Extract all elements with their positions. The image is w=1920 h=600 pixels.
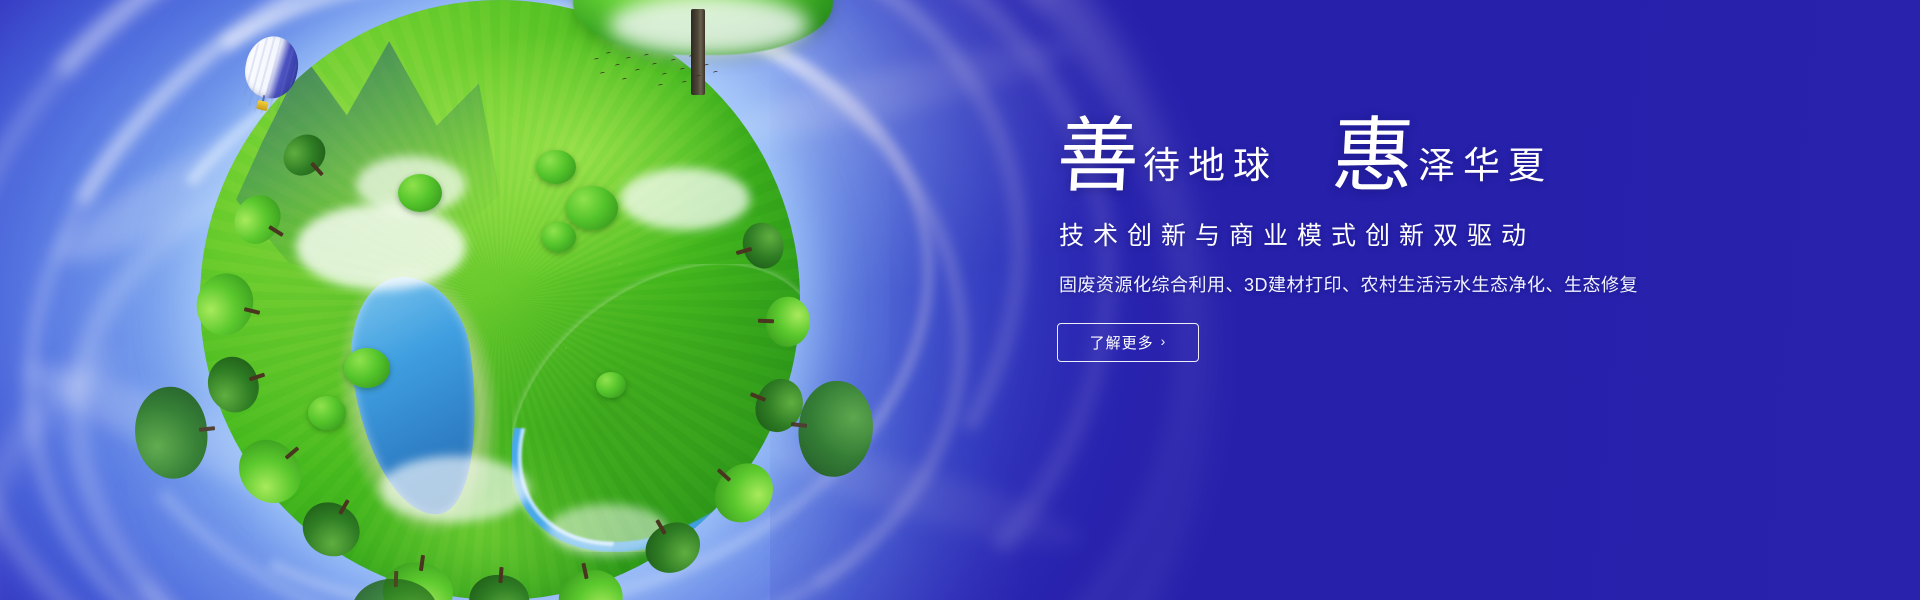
learn-more-button[interactable]: 了解更多 › <box>1057 323 1199 362</box>
bird-flock <box>592 48 722 96</box>
rim-tree <box>275 126 333 184</box>
rim-tree <box>637 513 709 583</box>
headline-small-text-1: 待地球 <box>1143 148 1278 185</box>
rim-tree <box>765 296 811 348</box>
rim-tree <box>554 564 628 600</box>
headline-small-text-2: 泽华夏 <box>1418 148 1553 185</box>
hero-banner: 善 待地球 惠 泽华夏 技术创新与商业模式创新双驱动 固废资源化综合利用、3D建… <box>0 0 1920 600</box>
headline-group-2: 惠 泽华夏 <box>1332 120 1553 194</box>
description: 固废资源化综合利用、3D建材打印、农村生活污水生态净化、生态修复 <box>1059 271 1677 297</box>
outer-tree <box>131 383 212 482</box>
rim-tree <box>467 573 530 600</box>
headline-big-char-2: 惠 <box>1330 120 1416 194</box>
outer-tree <box>351 577 439 600</box>
headline: 善 待地球 惠 泽华夏 <box>1057 120 1677 194</box>
headline-group-1: 善 待地球 <box>1057 120 1278 194</box>
rim-tree <box>738 218 789 273</box>
chevron-right-icon: › <box>1161 334 1167 348</box>
subtitle: 技术创新与商业模式创新双驱动 <box>1059 216 1677 252</box>
rim-tree <box>293 493 369 567</box>
rim-tree <box>226 428 313 516</box>
rim-tree <box>201 350 266 419</box>
outer-tree <box>794 377 878 480</box>
rim-tree <box>190 267 259 341</box>
banner-copy: 善 待地球 惠 泽华夏 技术创新与商业模式创新双驱动 固废资源化综合利用、3D建… <box>1057 120 1677 362</box>
rim-tree <box>225 186 289 252</box>
headline-big-char-1: 善 <box>1055 120 1141 194</box>
learn-more-label: 了解更多 <box>1090 332 1154 353</box>
rim-tree <box>703 452 785 534</box>
